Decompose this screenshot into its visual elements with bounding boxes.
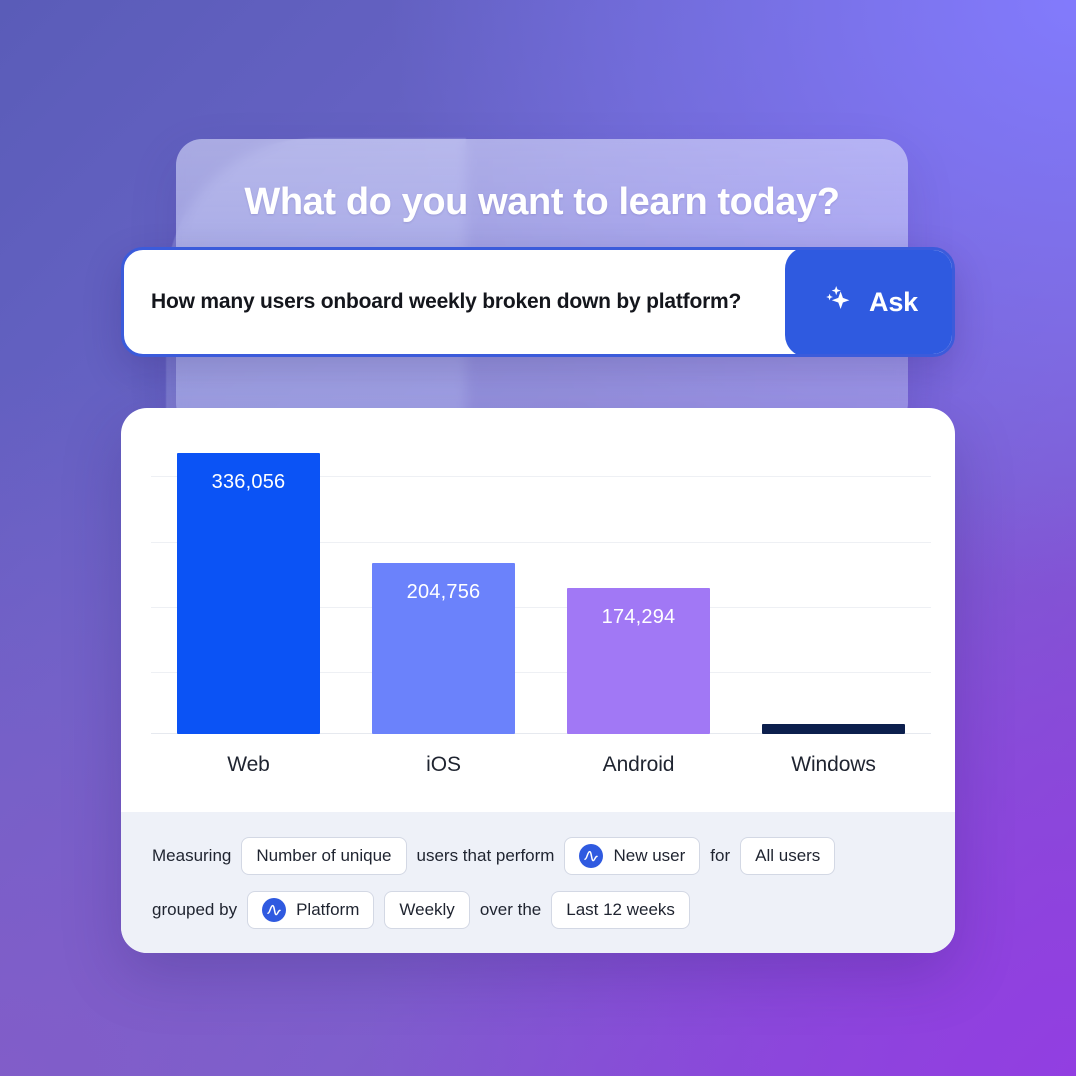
interval-pill[interactable]: Weekly — [384, 891, 469, 929]
for-label: for — [710, 846, 730, 866]
query-builder-row-2: grouped by Platform Weekly over the Last… — [152, 890, 924, 930]
group-by-pill[interactable]: Platform — [247, 891, 374, 929]
ask-search-bar[interactable]: Ask — [121, 247, 955, 357]
bar-slot: 336,056 — [153, 408, 345, 734]
date-range-pill[interactable]: Last 12 weeks — [551, 891, 690, 929]
x-label-web: Web — [153, 753, 345, 777]
event-pill[interactable]: New user — [564, 837, 700, 875]
bar-value-label: 336,056 — [177, 471, 320, 494]
grouped-by-label: grouped by — [152, 900, 237, 920]
event-pill-label: New user — [613, 846, 685, 866]
metric-pill-label: Number of unique — [256, 846, 391, 866]
bar-series: 336,056 204,756 174,294 — [151, 408, 931, 734]
chart-card: 336,056 204,756 174,294 — [121, 408, 955, 953]
bar-value-label: 204,756 — [372, 581, 515, 604]
bar-chart: 336,056 204,756 174,294 — [121, 408, 955, 812]
x-label-windows: Windows — [738, 753, 930, 777]
ask-button-label: Ask — [869, 287, 918, 318]
ask-button[interactable]: Ask — [785, 247, 955, 357]
x-label-android: Android — [543, 753, 735, 777]
users-that-perform-label: users that perform — [417, 846, 555, 866]
bar-android[interactable]: 174,294 — [567, 588, 710, 734]
segment-pill[interactable]: All users — [740, 837, 835, 875]
x-label-ios: iOS — [348, 753, 540, 777]
bar-slot: 174,294 — [543, 408, 735, 734]
amplitude-property-icon — [262, 898, 286, 922]
bar-slot — [738, 408, 930, 734]
bar-windows[interactable] — [762, 724, 905, 734]
over-the-label: over the — [480, 900, 541, 920]
amplitude-event-icon — [579, 844, 603, 868]
interval-pill-label: Weekly — [399, 900, 454, 920]
date-range-pill-label: Last 12 weeks — [566, 900, 675, 920]
sparkle-icon — [822, 282, 856, 323]
segment-pill-label: All users — [755, 846, 820, 866]
query-builder: Measuring Number of unique users that pe… — [121, 812, 955, 953]
bar-web[interactable]: 336,056 — [177, 453, 320, 734]
bar-slot: 204,756 — [348, 408, 540, 734]
metric-pill[interactable]: Number of unique — [241, 837, 406, 875]
bar-value-label: 174,294 — [567, 606, 710, 629]
measuring-label: Measuring — [152, 846, 231, 866]
page-title: What do you want to learn today? — [176, 181, 908, 224]
group-by-pill-label: Platform — [296, 900, 359, 920]
bar-ios[interactable]: 204,756 — [372, 563, 515, 734]
x-axis-labels: Web iOS Android Windows — [151, 753, 931, 777]
search-input[interactable] — [124, 250, 785, 354]
query-builder-row-1: Measuring Number of unique users that pe… — [152, 836, 924, 876]
app-background: What do you want to learn today? Ask — [0, 0, 1076, 1076]
